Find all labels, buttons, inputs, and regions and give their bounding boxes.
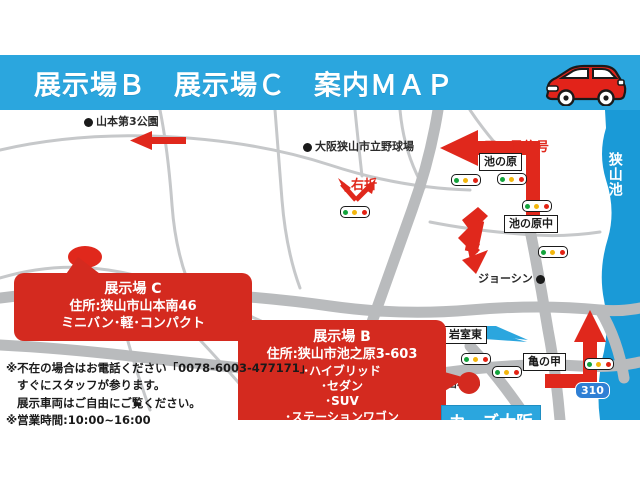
note-line-4: ※営業時間:10:00~16:00	[6, 412, 311, 429]
traffic-signal-icon	[461, 353, 491, 365]
header-banner: 展示場Ｂ 展示場Ｃ 案内ＭＡＰ	[0, 55, 640, 110]
cars-osaka-banner[interactable]: カーズ大阪	[441, 405, 541, 420]
traffic-signal-icon	[451, 174, 481, 186]
intersection-ikenohara: 池の原	[479, 153, 522, 171]
note-line-1: ※不在の場合はお電話ください「0078-6003-477171」	[6, 360, 311, 377]
showroom-b-name: 展示場 B	[238, 329, 446, 347]
poi-yamamoto-park: 山本第3公園	[84, 116, 159, 129]
showroom-c-address: 住所:狭山市山本南46	[14, 299, 252, 316]
page-title: 展示場Ｂ 展示場Ｃ 案内ＭＡＰ	[34, 63, 454, 102]
route-shield-310: 310	[575, 382, 610, 399]
route-note-turn-right: 右折	[351, 174, 377, 193]
traffic-signal-icon	[538, 246, 568, 258]
intersection-kamenoko: 亀の甲	[523, 353, 566, 371]
poi-marker-icon	[303, 143, 312, 152]
traffic-signal-icon	[492, 366, 522, 378]
lake-label: 狭山池	[607, 152, 622, 197]
footer-note: ※不在の場合はお電話ください「0078-6003-477171」 すぐにスタッフ…	[6, 360, 311, 429]
route-arrow-west	[130, 131, 186, 150]
showroom-c-name: 展示場 C	[14, 281, 252, 299]
red-car-icon	[542, 60, 628, 106]
showroom-c-callout[interactable]: 展示場 C 住所:狭山市山本南46 ミニバン･軽･コンパクト	[14, 273, 252, 341]
traffic-signal-icon	[584, 358, 614, 370]
poi-marker-icon	[84, 118, 93, 127]
intersection-ikenohara-naka: 池の原中	[504, 215, 558, 233]
note-line-3: 展示車両はご自由にご覧ください。	[6, 395, 311, 412]
poi-marker-icon	[536, 275, 545, 284]
traffic-signal-icon	[340, 206, 370, 218]
poi-joshin: ジョーシン	[478, 273, 545, 286]
traffic-signal-icon	[522, 200, 552, 212]
intersection-iwamuro-higashi: 岩室東	[444, 326, 487, 344]
poi-baseball-stadium: 大阪狭山市立野球場	[303, 141, 414, 154]
showroom-c-vehicles: ミニバン･軽･コンパクト	[14, 316, 252, 333]
traffic-signal-icon	[497, 173, 527, 185]
map-flyer: 展示場Ｂ 展示場Ｃ 案内ＭＡＰ	[0, 0, 640, 480]
route-note-third-signal: 三つ目信号	[484, 136, 549, 155]
note-line-2: すぐにスタッフが参ります。	[6, 377, 311, 394]
